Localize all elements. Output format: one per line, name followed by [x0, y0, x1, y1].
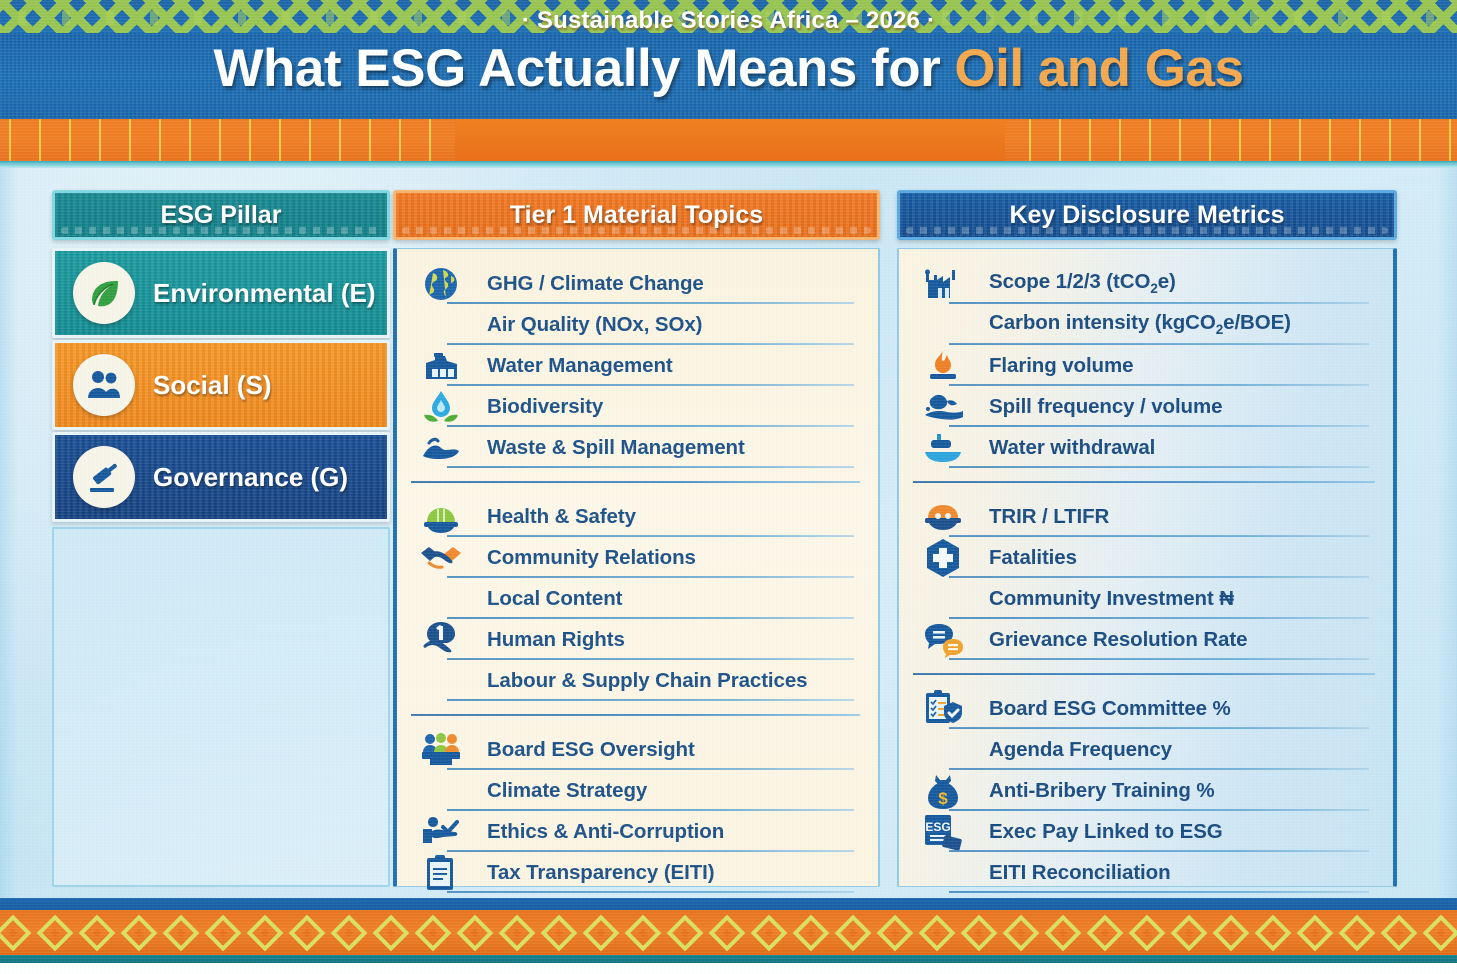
- pillar-column-empty-area: [52, 527, 390, 887]
- list-item-label: Spill frequency / volume: [989, 395, 1222, 419]
- page-title-main: What ESG Actually Means for: [214, 39, 955, 98]
- list-item-label: Tax Transparency (EITI): [487, 861, 714, 885]
- pillar-card-social[interactable]: Social (S): [52, 340, 390, 430]
- list-item[interactable]: Grievance Resolution Rate: [911, 619, 1377, 660]
- list-item-label: Exec Pay Linked to ESG: [989, 820, 1223, 844]
- list-item[interactable]: Air Quality (NOx, SOx): [409, 304, 862, 345]
- list-item-label: Waste & Spill Management: [487, 436, 745, 460]
- svg-text:ESG: ESG: [925, 820, 950, 834]
- section-divider: [913, 481, 1375, 483]
- list-item-label: Anti-Bribery Training %: [989, 779, 1215, 803]
- list-item[interactable]: EITI Reconciliation: [911, 852, 1377, 893]
- row-underline: [949, 658, 1369, 660]
- list-item-label: Water withdrawal: [989, 436, 1155, 460]
- column-header-esg-pillar-label: ESG Pillar: [161, 201, 282, 230]
- list-item-label: Agenda Frequency: [989, 738, 1172, 762]
- list-item[interactable]: Local Content: [409, 578, 862, 619]
- column-header-tier1-topics: Tier 1 Material Topics: [393, 190, 880, 240]
- list-item-label: Local Content: [487, 587, 622, 611]
- list-item[interactable]: Climate Strategy: [409, 770, 862, 811]
- list-item[interactable]: TRIR / LTIFR: [911, 496, 1377, 537]
- list-item-label: Board ESG Committee %: [989, 697, 1231, 721]
- list-item[interactable]: GHG / Climate Change: [409, 263, 862, 304]
- list-item[interactable]: Agenda Frequency: [911, 729, 1377, 770]
- right-edge-shade: [1437, 168, 1457, 898]
- list-item[interactable]: Labour & Supply Chain Practices: [409, 660, 862, 701]
- column-header-esg-pillar: ESG Pillar: [52, 190, 390, 240]
- row-underline: [949, 466, 1369, 468]
- subtitle-backdrop: [455, 119, 1005, 161]
- pillar-card-environmental[interactable]: Environmental (E): [52, 248, 390, 338]
- list-item-label: TRIR / LTIFR: [989, 505, 1109, 529]
- tier1-topics-panel: GHG / Climate Change Air Quality (NOx, S…: [393, 248, 880, 887]
- page-title-accent: Oil and Gas: [954, 39, 1243, 98]
- list-item[interactable]: Water Management: [409, 345, 862, 386]
- list-item[interactable]: Fatalities: [911, 537, 1377, 578]
- header-dot-pattern-icon: [402, 227, 871, 234]
- metrics-group-environmental: Scope 1/2/3 (tCO2e) Carbon intensity (kg…: [911, 263, 1377, 468]
- list-item[interactable]: Community Relations: [409, 537, 862, 578]
- metrics-group-social: TRIR / LTIFR Fatalities Community Invest…: [911, 496, 1377, 660]
- list-item[interactable]: ESG Exec Pay Linked to ESG: [911, 811, 1377, 852]
- list-item-label: Community Investment ₦: [989, 587, 1234, 611]
- list-item-label: Board ESG Oversight: [487, 738, 695, 762]
- list-item-label: Ethics & Anti-Corruption: [487, 820, 724, 844]
- bottom-decorative-border: [0, 910, 1457, 956]
- svg-text:$: $: [938, 789, 948, 808]
- metrics-group-governance: Board ESG Committee % Agenda Frequency $…: [911, 688, 1377, 893]
- list-item-label: Human Rights: [487, 628, 625, 652]
- list-item-label: Climate Strategy: [487, 779, 647, 803]
- header-dot-pattern-icon: [906, 227, 1388, 234]
- topics-group-social: Health & Safety Community Relations Loca…: [409, 496, 862, 701]
- row-underline: [447, 699, 854, 701]
- list-item-label: EITI Reconciliation: [989, 861, 1171, 885]
- list-item[interactable]: Flaring volume: [911, 345, 1377, 386]
- list-item[interactable]: Health & Safety: [409, 496, 862, 537]
- list-item[interactable]: Spill frequency / volume: [911, 386, 1377, 427]
- list-item[interactable]: Board ESG Committee %: [911, 688, 1377, 729]
- bottom-white-edge: [0, 963, 1457, 974]
- list-item[interactable]: Scope 1/2/3 (tCO2e): [911, 263, 1377, 304]
- list-item[interactable]: Waste & Spill Management: [409, 427, 862, 468]
- list-item-label: Labour & Supply Chain Practices: [487, 669, 807, 693]
- pillar-label-governance: Governance (G): [153, 462, 348, 493]
- list-item[interactable]: Community Investment ₦: [911, 578, 1377, 619]
- list-item-label: GHG / Climate Change: [487, 272, 704, 296]
- section-divider: [411, 714, 860, 716]
- infographic-poster: What ESG Actually Means for Oil and Gas …: [0, 0, 1457, 974]
- list-item[interactable]: Board ESG Oversight: [409, 729, 862, 770]
- topics-group-environmental: GHG / Climate Change Air Quality (NOx, S…: [409, 263, 862, 468]
- section-divider: [913, 673, 1375, 675]
- list-item[interactable]: Biodiversity: [409, 386, 862, 427]
- subtitle-band: [0, 119, 1457, 161]
- list-item-label: Scope 1/2/3 (tCO2e): [989, 270, 1176, 296]
- list-item-label: Community Relations: [487, 546, 696, 570]
- header-dot-pattern-icon: [61, 227, 381, 234]
- column-header-key-metrics-label: Key Disclosure Metrics: [1009, 201, 1284, 230]
- leaf-icon: [73, 262, 135, 324]
- list-item[interactable]: Ethics & Anti-Corruption: [409, 811, 862, 852]
- pillar-label-environmental: Environmental (E): [153, 278, 375, 309]
- pillar-card-governance[interactable]: Governance (G): [52, 432, 390, 522]
- subtitle-text: · Sustainable Stories Africa – 2026 ·: [0, 0, 1457, 42]
- teal-divider-line: [0, 161, 1457, 168]
- gavel-icon: [73, 446, 135, 508]
- list-item-label: Health & Safety: [487, 505, 636, 529]
- section-divider: [411, 481, 860, 483]
- list-item[interactable]: $ Anti-Bribery Training %: [911, 770, 1377, 811]
- list-item-label: Fatalities: [989, 546, 1077, 570]
- row-underline: [447, 466, 854, 468]
- page-title: What ESG Actually Means for Oil and Gas: [0, 38, 1457, 99]
- pillar-label-social: Social (S): [153, 370, 271, 401]
- list-item[interactable]: Tax Transparency (EITI): [409, 852, 862, 893]
- esg-pillar-column: Environmental (E) Social (S): [52, 248, 390, 523]
- row-underline: [949, 891, 1369, 893]
- column-header-key-metrics: Key Disclosure Metrics: [897, 190, 1397, 240]
- list-item-label: Biodiversity: [487, 395, 603, 419]
- list-item-label: Carbon intensity (kgCO2e/BOE): [989, 311, 1291, 337]
- list-item[interactable]: Water withdrawal: [911, 427, 1377, 468]
- people-icon: [73, 354, 135, 416]
- list-item-label: Flaring volume: [989, 354, 1133, 378]
- diamond-pattern-icon: [0, 916, 1457, 950]
- list-item-label: Grievance Resolution Rate: [989, 628, 1247, 652]
- list-item-label: Air Quality (NOx, SOx): [487, 313, 702, 337]
- left-edge-shade: [0, 168, 18, 898]
- list-item[interactable]: Human Rights: [409, 619, 862, 660]
- list-item-label: Water Management: [487, 354, 673, 378]
- list-item[interactable]: Carbon intensity (kgCO2e/BOE): [911, 304, 1377, 345]
- key-metrics-panel: Scope 1/2/3 (tCO2e) Carbon intensity (kg…: [897, 248, 1397, 887]
- column-header-tier1-topics-label: Tier 1 Material Topics: [510, 201, 763, 230]
